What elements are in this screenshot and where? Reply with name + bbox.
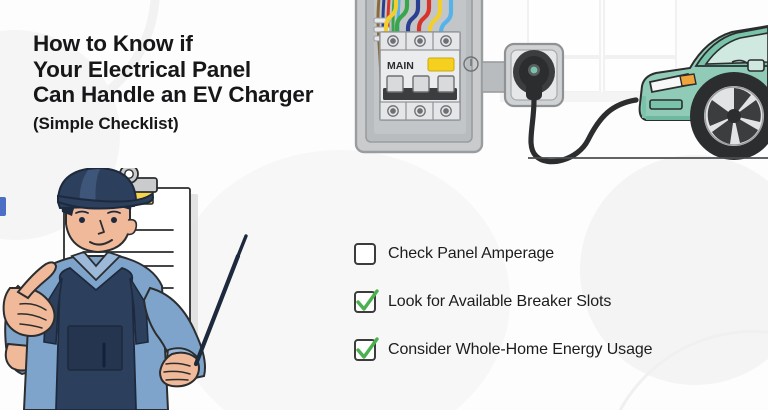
worker-clipboard-illustration — [0, 168, 360, 410]
title-line-1: How to Know if — [33, 31, 193, 56]
checklist-item-label: Consider Whole-Home Energy Usage — [388, 341, 652, 359]
panel-charger-car-illustration: MAIN — [350, 0, 768, 172]
checklist-item-label: Check Panel Amperage — [388, 245, 554, 263]
page-title: How to Know if Your Electrical Panel Can… — [33, 31, 363, 108]
checklist-item[interactable]: Check Panel Amperage — [354, 240, 652, 268]
infographic-canvas: How to Know if Your Electrical Panel Can… — [0, 0, 768, 410]
wall-charger-outlet — [482, 44, 563, 106]
page-subtitle: (Simple Checklist) — [33, 114, 363, 134]
checkbox-look-for-available-breaker-slots[interactable] — [354, 291, 376, 313]
checkbox-check-panel-amperage[interactable] — [354, 243, 376, 265]
pointer-stick — [196, 256, 238, 364]
checklist: Check Panel Amperage Look for Available … — [354, 240, 652, 384]
checklist-item[interactable]: Look for Available Breaker Slots — [354, 288, 652, 316]
checkbox-consider-whole-home-energy-usage[interactable] — [354, 339, 376, 361]
main-breaker: MAIN — [380, 32, 460, 120]
title-line-3: Can Handle an EV Charger — [33, 82, 313, 107]
checklist-item-label: Look for Available Breaker Slots — [388, 293, 611, 311]
checklist-item[interactable]: Consider Whole-Home Energy Usage — [354, 336, 652, 364]
breaker-label: MAIN — [387, 60, 414, 72]
electrician — [4, 168, 246, 410]
checkmark-icon — [354, 336, 380, 362]
pointing-hand — [4, 262, 56, 336]
checkmark-icon — [354, 288, 380, 314]
breaker-toggles — [387, 76, 454, 92]
electrical-panel: MAIN — [356, 0, 482, 152]
headline-block: How to Know if Your Electrical Panel Can… — [33, 31, 363, 134]
charging-cable — [531, 100, 636, 162]
title-line-2: Your Electrical Panel — [33, 57, 251, 82]
